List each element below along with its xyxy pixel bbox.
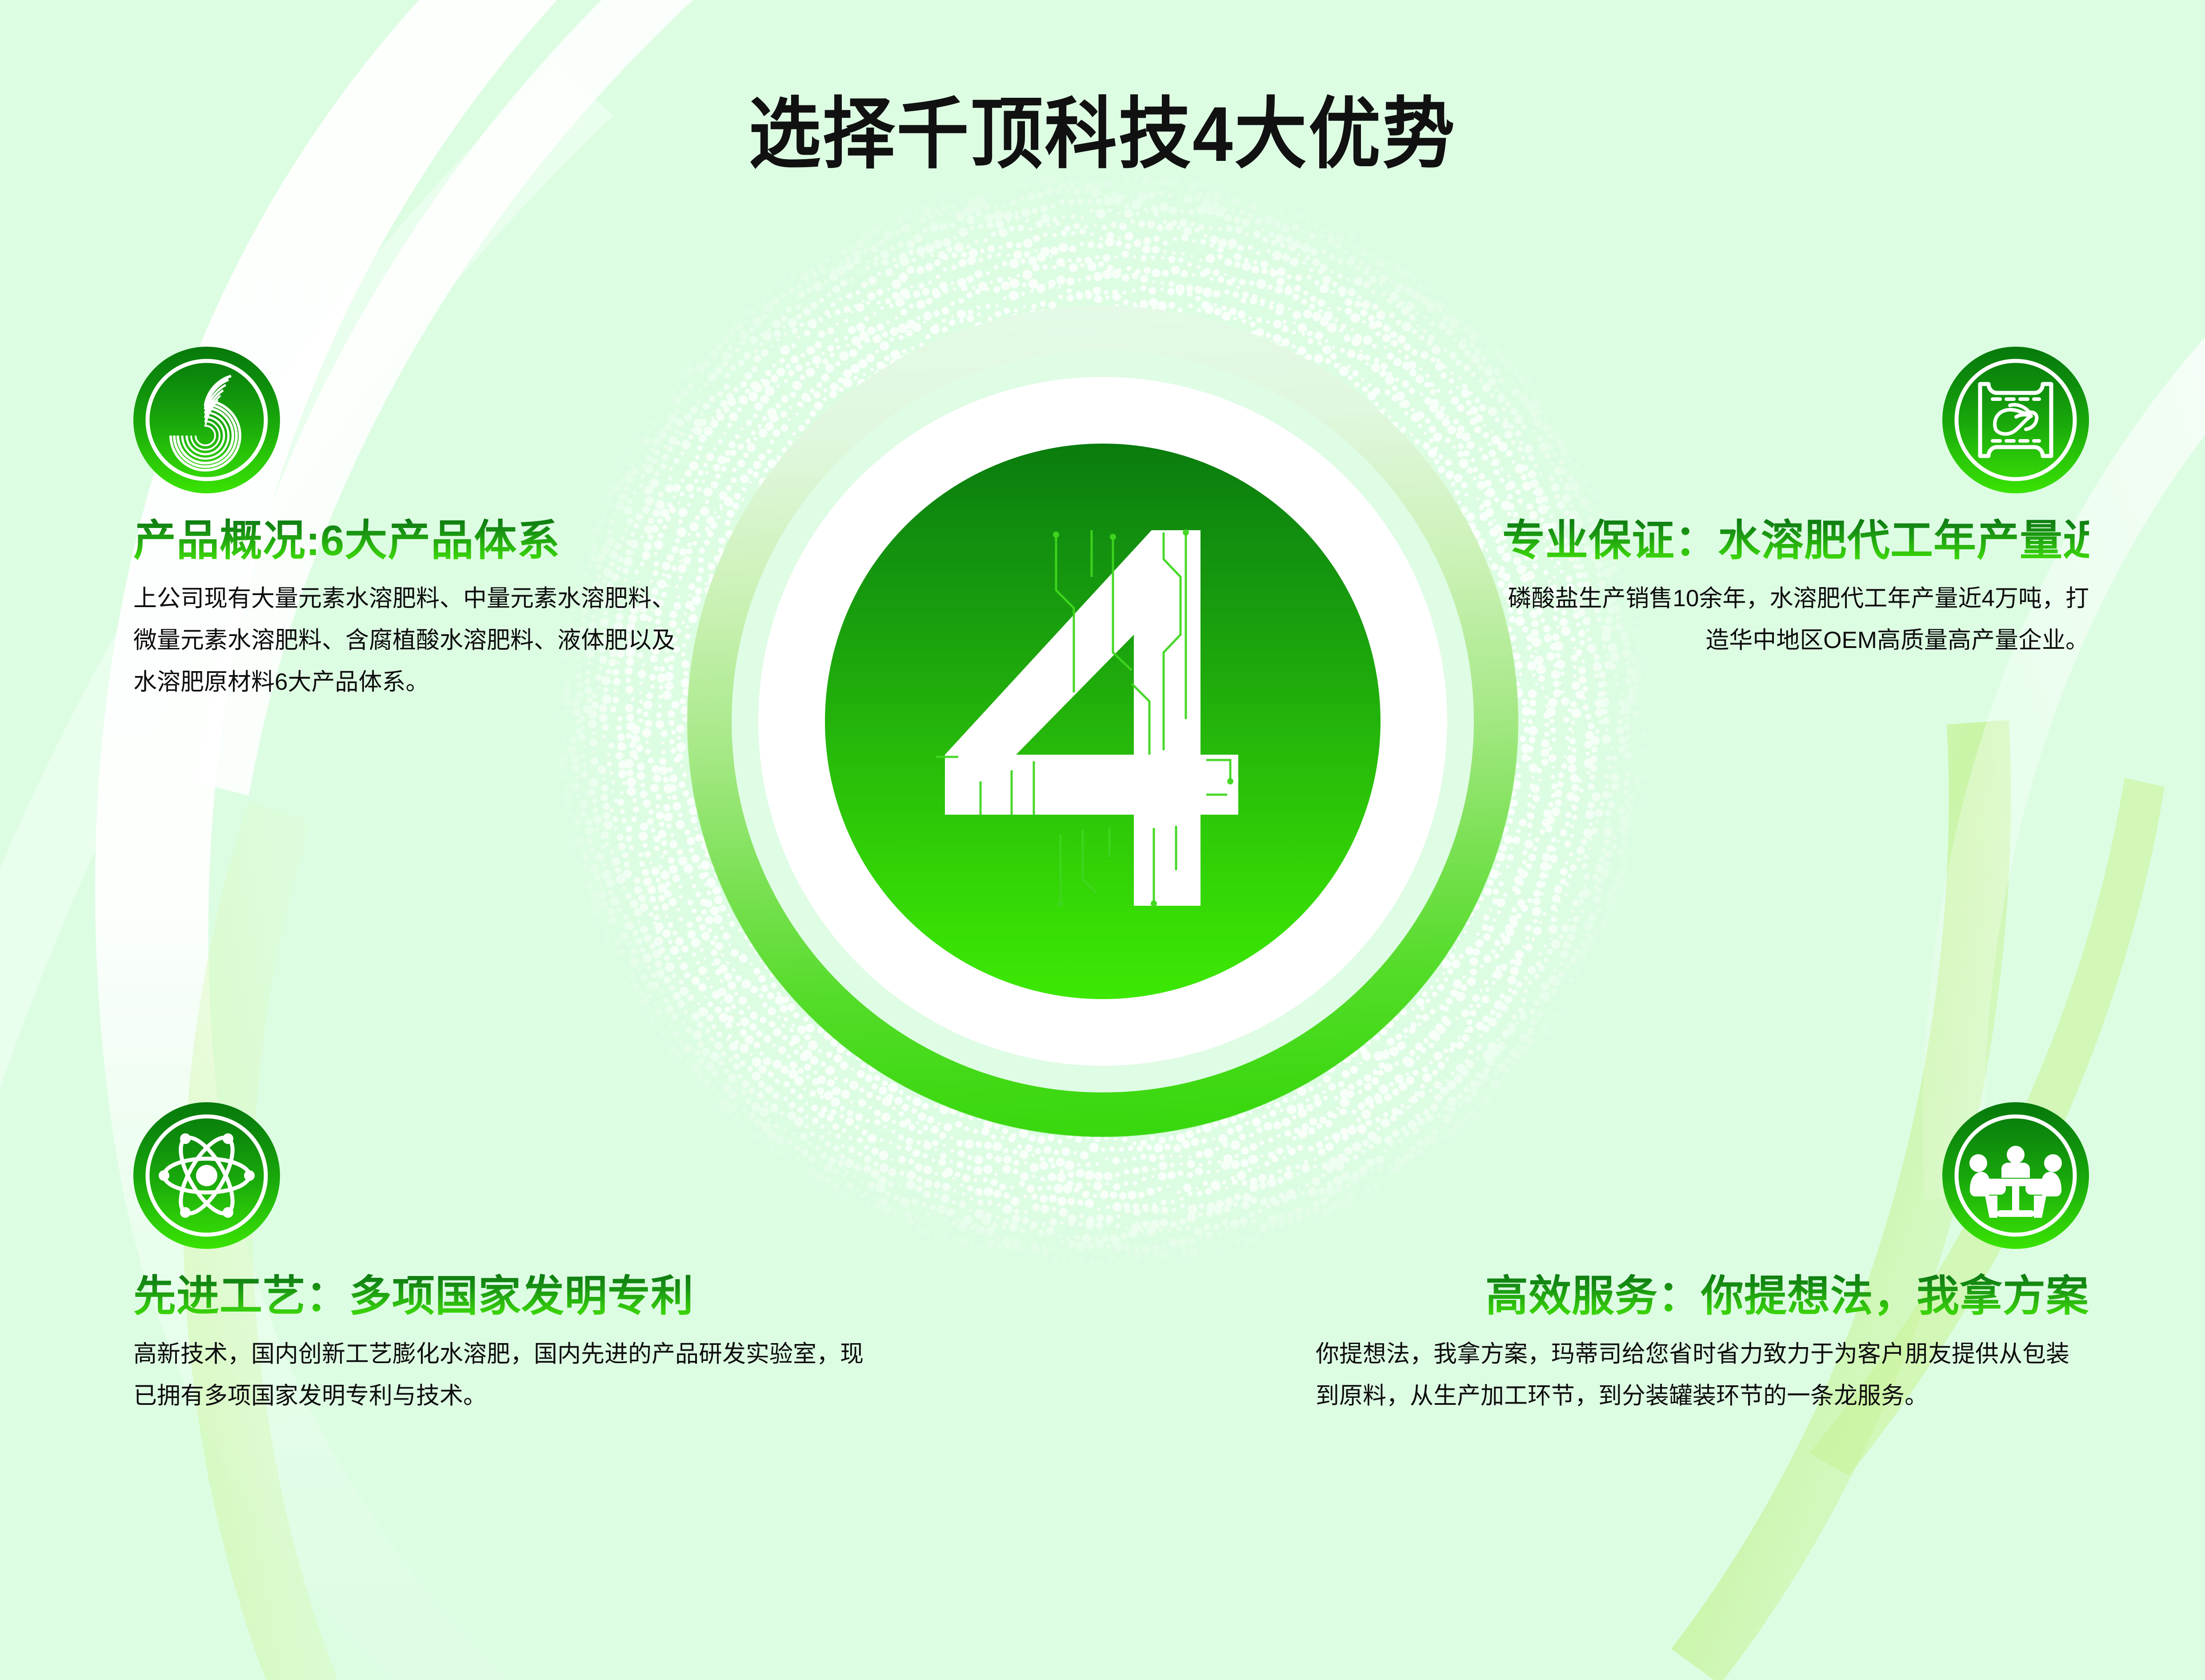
meeting-table-icon: [1942, 1102, 2089, 1249]
advantage-body-top-right: 磷酸盐生产销售10余年，水溶肥代工年产量近4万吨，打造华中地区OEM高质量高产量…: [1502, 578, 2089, 662]
advantage-body-bottom-left: 高新技术，国内创新工艺膨化水溶肥，国内先进的产品研发实验室，现已拥有多项国家发明…: [133, 1333, 871, 1417]
infographic-canvas: 产品概况:6大产品体系 上公司现有大量元素水溶肥料、中量元素水溶肥料、微量元素水…: [0, 0, 2205, 1680]
advantage-block-bottom-right: 高效服务：你提想法，我拿方案 你提想法，我拿方案，玛蒂司给您省时省力致力于为客户…: [1316, 1102, 2089, 1417]
page-title: 选择千顶科技4大优势: [77, 96, 2128, 173]
advantage-heading-bottom-right: 高效服务：你提想法，我拿方案: [1316, 1273, 2089, 1320]
advantage-block-top-left: 产品概况:6大产品体系 上公司现有大量元素水溶肥料、中量元素水溶肥料、微量元素水…: [133, 347, 693, 704]
big-number-four-graphic: [825, 444, 1381, 999]
advantage-body-bottom-right: 你提想法，我拿方案，玛蒂司给您省时省力致力于为客户朋友提供从包装到原料，从生产加…: [1316, 1333, 2089, 1417]
advantage-heading-bottom-left: 先进工艺：多项国家发明专利: [133, 1273, 880, 1320]
advantage-block-bottom-left: 先进工艺：多项国家发明专利 高新技术，国内创新工艺膨化水溶肥，国内先进的产品研发…: [133, 1102, 880, 1417]
advantage-heading-top-right: 专业保证：水溶肥代工年产量近4万吨: [1502, 517, 2089, 564]
advantage-body-top-left: 上公司现有大量元素水溶肥料、中量元素水溶肥料、微量元素水溶肥料、含腐植酸水溶肥料…: [133, 578, 684, 704]
advantage-block-top-right: 专业保证：水溶肥代工年产量近4万吨 磷酸盐生产销售10余年，水溶肥代工年产量近4…: [1502, 347, 2089, 661]
fertilizer-bag-icon: [1942, 347, 2089, 493]
advantage-heading-top-left: 产品概况:6大产品体系: [133, 517, 693, 564]
atom-icon: [133, 1102, 280, 1249]
number-six-ring-icon: [133, 347, 280, 493]
center-number-disc: [825, 444, 1381, 999]
